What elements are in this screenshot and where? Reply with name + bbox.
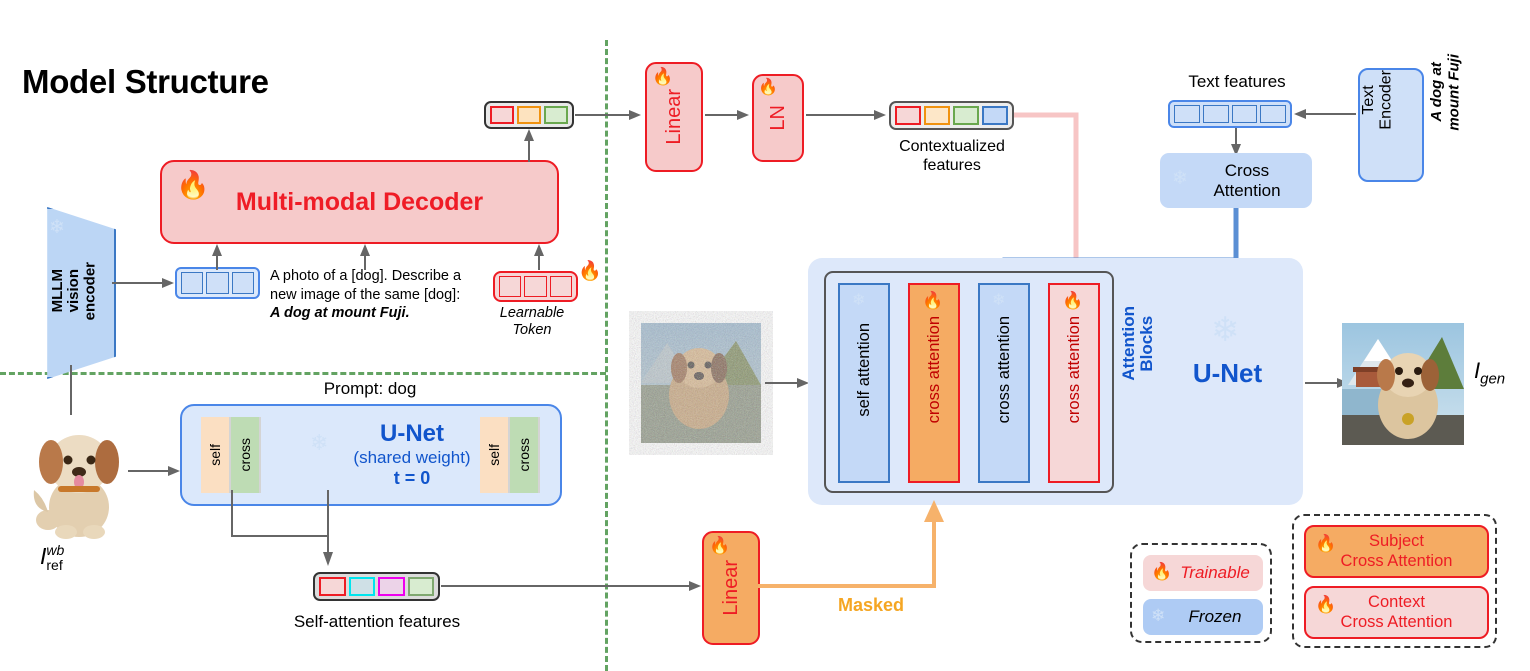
masked-label: Masked [838, 595, 904, 616]
learnable-token-strip [493, 271, 578, 302]
vision-token-strip [175, 267, 260, 299]
self-label: self [207, 444, 223, 466]
cross-label: cross [237, 438, 253, 471]
generated-image [1342, 323, 1464, 445]
arrow-features-to-linear-bottom [441, 579, 701, 593]
mllm-line3: encoder [81, 262, 98, 320]
input-caption-line2: mount Fuji [1445, 54, 1462, 131]
legend-trainable-pill: 🔥 Trainable [1143, 555, 1263, 591]
attention-blocks-line2: Blocks [1137, 315, 1156, 371]
attention-block-text-cross-attention[interactable]: ❄ cross attention [978, 283, 1030, 483]
flame-icon: 🔥 [758, 80, 778, 96]
legend-attention-box: 🔥 Subject Cross Attention 🔥 Context Cros… [1292, 514, 1497, 648]
legend-subject-line1: Subject [1369, 532, 1424, 550]
arrow-outtokens-to-linear [575, 108, 641, 122]
text-encoder-line1: Text [1360, 85, 1377, 114]
flame-icon: 🔥 [922, 292, 943, 309]
token-cell [517, 106, 541, 124]
attention-blocks-title: Attention Blocks [1120, 306, 1156, 381]
flame-icon: 🔥 [652, 68, 673, 85]
legend-subject-line2: Cross Attention [1341, 552, 1453, 570]
legend-state-box: 🔥 Trainable ❄ Frozen [1130, 543, 1272, 643]
attention-block-label: cross attention [995, 316, 1014, 449]
input-caption-line1: A dog at [1428, 63, 1445, 122]
connector-masked-to-subject-cross-attention [758, 500, 958, 592]
flame-icon: 🔥 [578, 262, 602, 281]
text-features-strip [1168, 100, 1292, 128]
legend-subject-label: Subject Cross Attention [1341, 532, 1453, 572]
connector-refimage-to-mllm [68, 365, 74, 415]
token-cell [1260, 105, 1286, 123]
snowflake-icon: ❄ [1211, 313, 1240, 347]
token-cell [490, 106, 514, 124]
learnable-caption-line2: Token [513, 322, 552, 338]
token-cell [524, 276, 546, 297]
unet-denoiser[interactable]: ❄ self attention 🔥 cross attention ❄ cro… [808, 258, 1303, 505]
attention-block-label: cross attention [1065, 316, 1084, 449]
legend-frozen-label: Frozen [1165, 607, 1242, 627]
arrow-linear-to-ln [705, 108, 749, 122]
linear-top-block[interactable]: 🔥 Linear [645, 62, 703, 172]
unet-small-label: U-Net (shared weight) t = 0 [302, 420, 522, 489]
text-encoder-block[interactable]: ❄ TextEncoder [1358, 68, 1424, 182]
token-cell [408, 577, 435, 596]
ln-label: LN [767, 105, 790, 131]
token-cell [1174, 105, 1200, 123]
linear-top-label: Linear [663, 89, 686, 145]
token-cell [982, 106, 1008, 125]
attention-block-label: self attention [855, 323, 874, 443]
legend-subject-cross-attention-pill: 🔥 Subject Cross Attention [1304, 525, 1489, 578]
arrow-noisy-to-unet [765, 376, 809, 390]
token-cell [378, 577, 405, 596]
token-cell [206, 272, 228, 294]
xattn-line1: Cross [1225, 161, 1269, 180]
token-cell [499, 276, 521, 297]
attention-block-self-attention[interactable]: ❄ self attention [838, 283, 890, 483]
self-attention-slot[interactable]: self [201, 417, 229, 493]
gen-label-sub: gen [1480, 370, 1505, 387]
reference-image-label: Iwbref [40, 543, 64, 573]
layer-norm-block[interactable]: 🔥 LN [752, 74, 804, 162]
token-cell [924, 106, 950, 125]
page-title: Model Structure [22, 63, 269, 101]
flame-icon: 🔥 [1062, 292, 1083, 309]
prompt-line2: new image of the same [dog]: [270, 287, 460, 303]
unet-small-prompt-label: Prompt: dog [280, 379, 460, 399]
arrow-refimage-to-unet-small [128, 464, 180, 478]
attention-pair-left: self cross [201, 417, 261, 493]
ref-label-sup: wb [46, 543, 64, 558]
noisy-input-image [641, 323, 761, 443]
prompt-text: A photo of a [dog]. Describe a new image… [270, 267, 485, 323]
snowflake-icon: ❄ [1172, 169, 1188, 188]
ctx-caption-line1: Contextualized [899, 138, 1005, 155]
arrow-vtokens-to-decoder [210, 244, 224, 270]
contextualized-features-strip [889, 101, 1014, 130]
token-cell [953, 106, 979, 125]
flame-icon: 🔥 [176, 172, 210, 199]
flame-icon: 🔥 [1315, 535, 1336, 552]
prompt-line1: A photo of a [dog]. Describe a [270, 268, 461, 284]
attention-block-label: cross attention [925, 316, 944, 449]
decoder-output-token-strip [484, 101, 574, 129]
prompt-line3: A dog at mount Fuji. [270, 305, 410, 321]
unet-label: U-Net [1160, 358, 1295, 389]
arrow-textfeatures-to-crossattention [1229, 128, 1243, 156]
flame-icon: 🔥 [709, 537, 730, 554]
unet-small-subtitle: (shared weight) [302, 448, 522, 468]
cross-attention-frozen-block[interactable]: ❄ CrossAttention [1160, 153, 1312, 208]
legend-context-line2: Cross Attention [1341, 613, 1453, 631]
flame-icon: 🔥 [1151, 563, 1172, 580]
legend-context-label: Context Cross Attention [1341, 593, 1453, 633]
contextualized-features-caption: Contextualized features [880, 138, 1024, 176]
legend-context-cross-attention-pill: 🔥 Context Cross Attention [1304, 586, 1489, 639]
text-encoder-line2: Encoder [1378, 70, 1395, 130]
learnable-caption-line1: Learnable [500, 305, 565, 321]
attention-block-subject-cross-attention[interactable]: 🔥 cross attention [908, 283, 960, 483]
attention-block-context-cross-attention[interactable]: 🔥 cross attention [1048, 283, 1100, 483]
cross-attention-label: CrossAttention [1191, 161, 1280, 200]
token-cell [1232, 105, 1258, 123]
generated-image-label: Igen [1474, 358, 1505, 387]
token-cell [544, 106, 568, 124]
snowflake-icon: ❄ [1151, 607, 1165, 624]
token-cell [895, 106, 921, 125]
token-cell [232, 272, 254, 294]
cross-attention-slot[interactable]: cross [231, 417, 259, 493]
ctx-caption-line2: features [923, 157, 981, 174]
mllm-vision-encoder-label: MLLM vision encoder [36, 207, 112, 375]
arrow-textencoder-to-textfeatures [1294, 107, 1356, 121]
unet-small-timestep: t = 0 [302, 468, 522, 489]
arrow-decoder-to-outtokens [522, 129, 536, 162]
mllm-line2: vision [65, 269, 82, 312]
token-cell [349, 577, 376, 596]
token-cell [1203, 105, 1229, 123]
unet-small-title: U-Net [302, 420, 522, 448]
arrow-encoder-to-tokens [112, 276, 174, 290]
legend-context-line1: Context [1368, 593, 1425, 611]
multimodal-decoder[interactable]: 🔥 Multi-modal Decoder [160, 160, 559, 244]
arrow-learnable-to-decoder [532, 244, 546, 270]
vertical-divider [605, 40, 608, 671]
token-cell [181, 272, 203, 294]
connector-selfattn-to-features [218, 490, 518, 570]
learnable-token-caption: Learnable Token [487, 305, 577, 340]
mllm-line1: MLLM [49, 269, 66, 312]
reference-image [24, 412, 134, 540]
snowflake-icon: ❄ [992, 293, 1005, 309]
attention-blocks-line1: Attention [1119, 306, 1138, 381]
token-cell [319, 577, 346, 596]
xattn-line2: Attention [1213, 181, 1280, 200]
text-features-caption: Text features [1152, 72, 1322, 92]
self-attention-features-caption: Self-attention features [275, 612, 479, 632]
linear-bottom-label: Linear [720, 560, 743, 616]
legend-frozen-pill: ❄ Frozen [1143, 599, 1263, 635]
arrow-ln-to-contextualized [806, 108, 886, 122]
multimodal-decoder-label: Multi-modal Decoder [236, 188, 483, 217]
snowflake-icon: ❄ [852, 293, 865, 309]
token-cell [550, 276, 572, 297]
linear-bottom-block[interactable]: 🔥 Linear [702, 531, 760, 645]
input-caption-text: A dog at mount Fuji [1428, 54, 1463, 131]
flame-icon: 🔥 [1315, 596, 1336, 613]
ref-label-sub: ref [46, 558, 64, 573]
text-encoder-label: TextEncoder [1360, 70, 1395, 130]
attention-blocks-container: ❄ self attention 🔥 cross attention ❄ cro… [824, 271, 1114, 493]
self-attention-features-strip [313, 572, 440, 601]
